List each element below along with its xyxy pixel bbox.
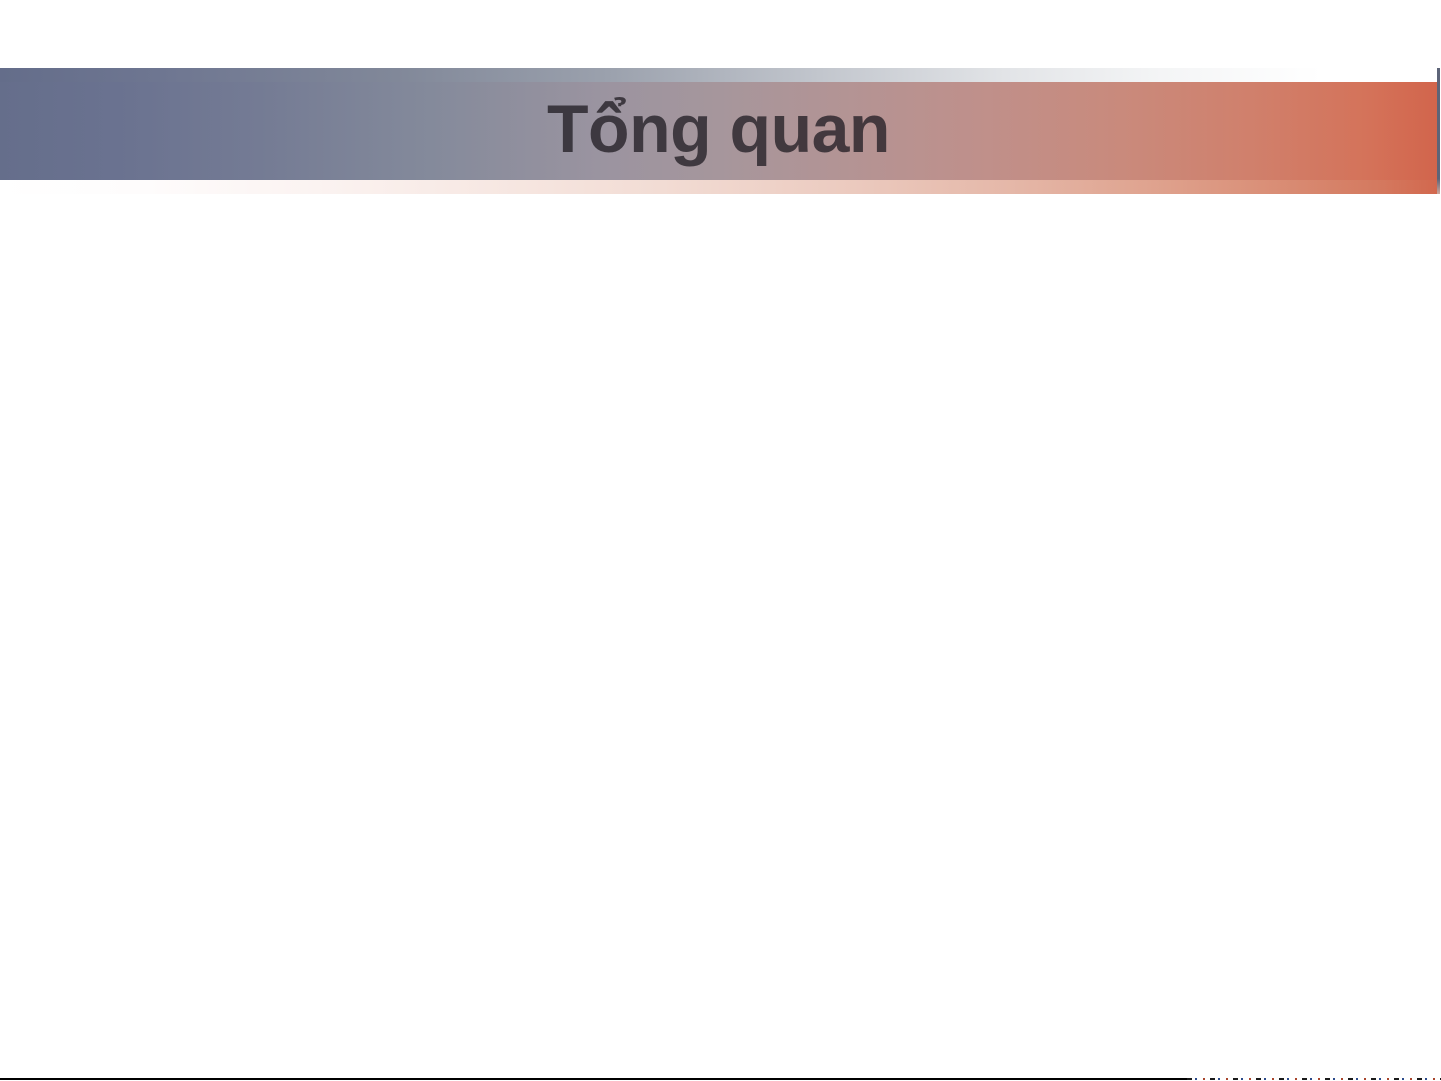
banner-right-edge-rule [1437, 68, 1440, 194]
title-banner: Tổng quan [0, 68, 1441, 194]
slide-title: Tổng quan [0, 82, 1437, 180]
banner-top-highlight-strip [0, 68, 1322, 82]
bottom-edge-rule [0, 1078, 1187, 1080]
bottom-edge-rule-artifact [1187, 1078, 1441, 1080]
presentation-slide: Tổng quan [0, 0, 1441, 1081]
content-placeholder[interactable] [72, 214, 1369, 1014]
slide-content-area[interactable] [0, 194, 1441, 1078]
banner-bottom-fade-strip [0, 180, 1437, 194]
